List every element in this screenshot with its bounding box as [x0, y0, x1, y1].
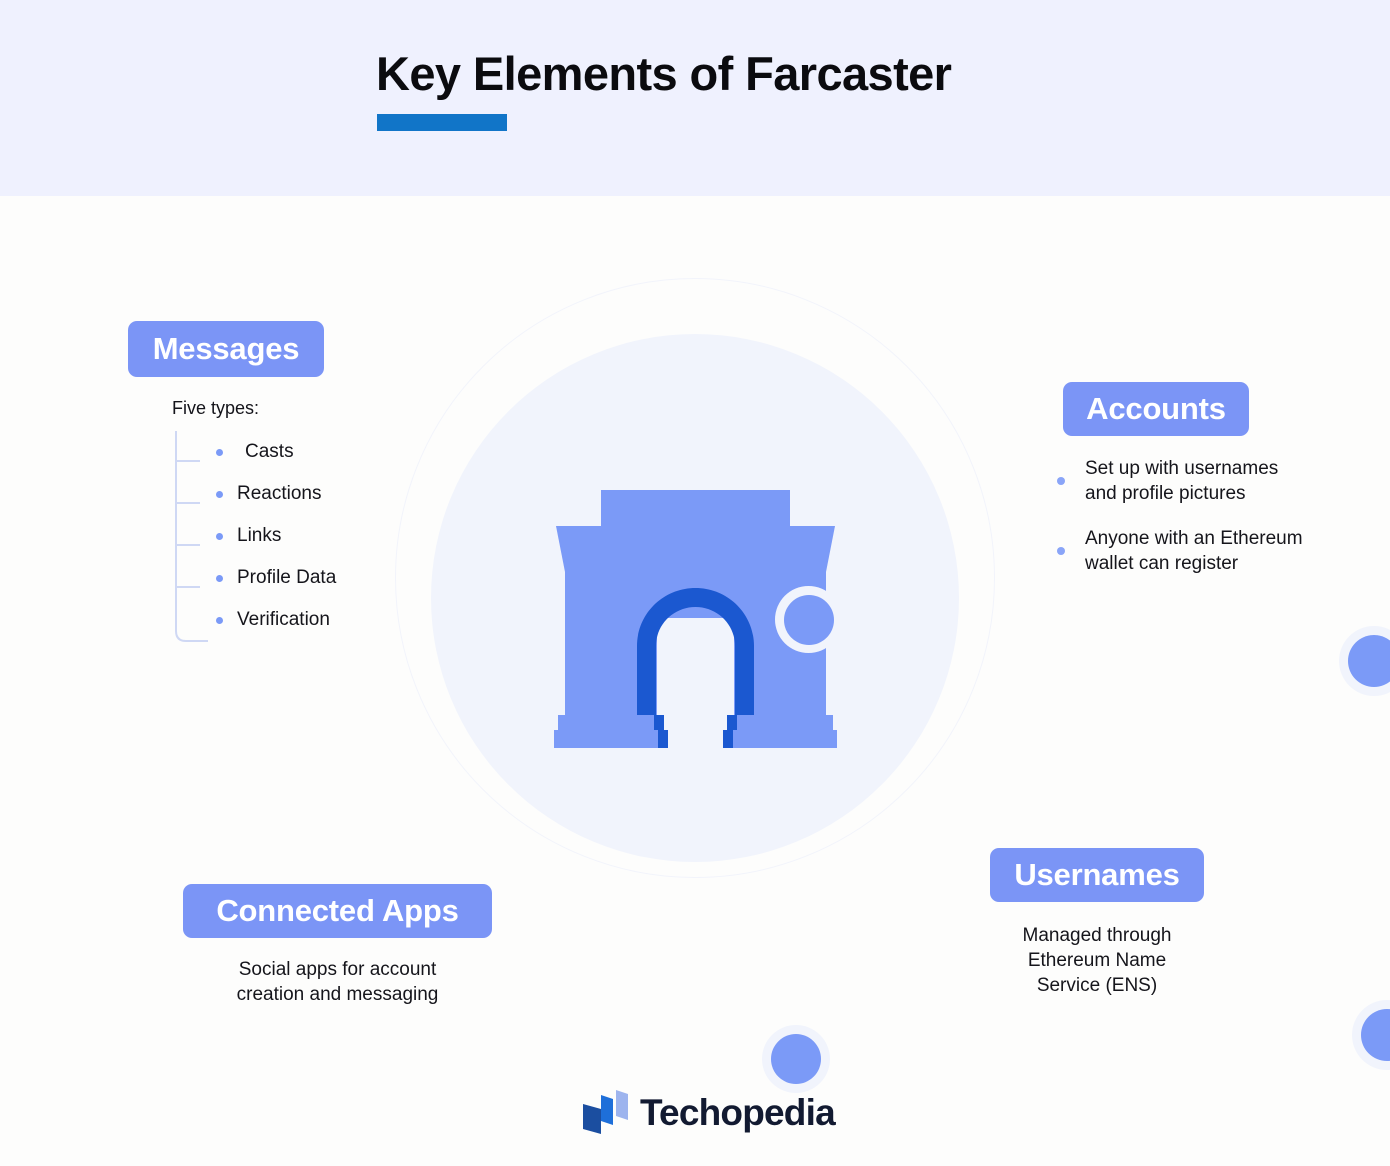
description-line2: creation and messaging — [237, 984, 439, 1005]
page-title: Key Elements of Farcaster — [376, 46, 951, 101]
bullet-dot-icon — [1057, 547, 1065, 555]
badge-accounts: Accounts — [1063, 382, 1249, 436]
list-item-label: Links — [237, 525, 281, 547]
list-item-label: Reactions — [237, 483, 322, 505]
list-item-line1: Anyone with an Ethereum — [1085, 528, 1303, 549]
description-line2: Ethereum Name — [1028, 950, 1166, 971]
list-item: Anyone with an Ethereum wallet can regis… — [1057, 526, 1357, 576]
list-item-label: Casts — [237, 441, 294, 463]
usernames-description: Managed through Ethereum Name Service (E… — [990, 923, 1204, 998]
node-core — [1361, 1009, 1390, 1061]
badge-usernames: Usernames — [990, 848, 1204, 902]
list-item-label: Verification — [237, 609, 330, 631]
center-graphic — [381, 250, 1009, 940]
bullet-dot-icon — [216, 449, 223, 456]
list-item-label: Profile Data — [237, 567, 336, 589]
node-dot-connected-apps — [762, 1025, 830, 1093]
description-line1: Managed through — [1023, 925, 1172, 946]
bullet-dot-icon — [216, 575, 223, 582]
title-underline-rule — [377, 114, 507, 131]
messages-item-list: Casts Reactions Links Profile Data Verif… — [216, 431, 436, 641]
node-core — [771, 1034, 821, 1084]
bullet-dot-icon — [216, 491, 223, 498]
node-core — [1348, 635, 1390, 687]
node-dot-accounts — [1339, 626, 1390, 696]
section-accounts: Set up with usernames and profile pictur… — [1057, 456, 1357, 596]
brand-name: Techopedia — [640, 1092, 835, 1134]
node-core — [784, 595, 834, 645]
badge-connected-apps: Connected Apps — [183, 884, 492, 938]
list-item-line1: Set up with usernames — [1085, 458, 1278, 479]
node-dot-messages — [775, 586, 842, 653]
list-item-line2: and profile pictures — [1085, 483, 1246, 504]
list-item: Casts — [216, 431, 436, 473]
list-item: Profile Data — [216, 557, 436, 599]
connected-apps-description: Social apps for account creation and mes… — [183, 957, 492, 1007]
bullet-dot-icon — [216, 533, 223, 540]
list-item: Set up with usernames and profile pictur… — [1057, 456, 1357, 506]
list-item-line2: wallet can register — [1085, 553, 1238, 574]
badge-messages: Messages — [128, 321, 324, 377]
infographic-canvas: Key Elements of Farcaster — [0, 0, 1390, 1166]
bullet-dot-icon — [1057, 477, 1065, 485]
bullet-dot-icon — [216, 617, 223, 624]
techopedia-logo: Techopedia — [578, 1088, 835, 1138]
node-dot-usernames — [1352, 1000, 1390, 1070]
list-item: Links — [216, 515, 436, 557]
description-line1: Social apps for account — [239, 959, 437, 980]
messages-intro-label: Five types: — [172, 398, 259, 419]
list-item: Verification — [216, 599, 436, 641]
list-item-label: Anyone with an Ethereum wallet can regis… — [1085, 526, 1303, 576]
list-item: Reactions — [216, 473, 436, 515]
list-item-label: Set up with usernames and profile pictur… — [1085, 456, 1278, 506]
techopedia-layers-icon — [578, 1088, 632, 1138]
description-line3: Service (ENS) — [1037, 975, 1157, 996]
